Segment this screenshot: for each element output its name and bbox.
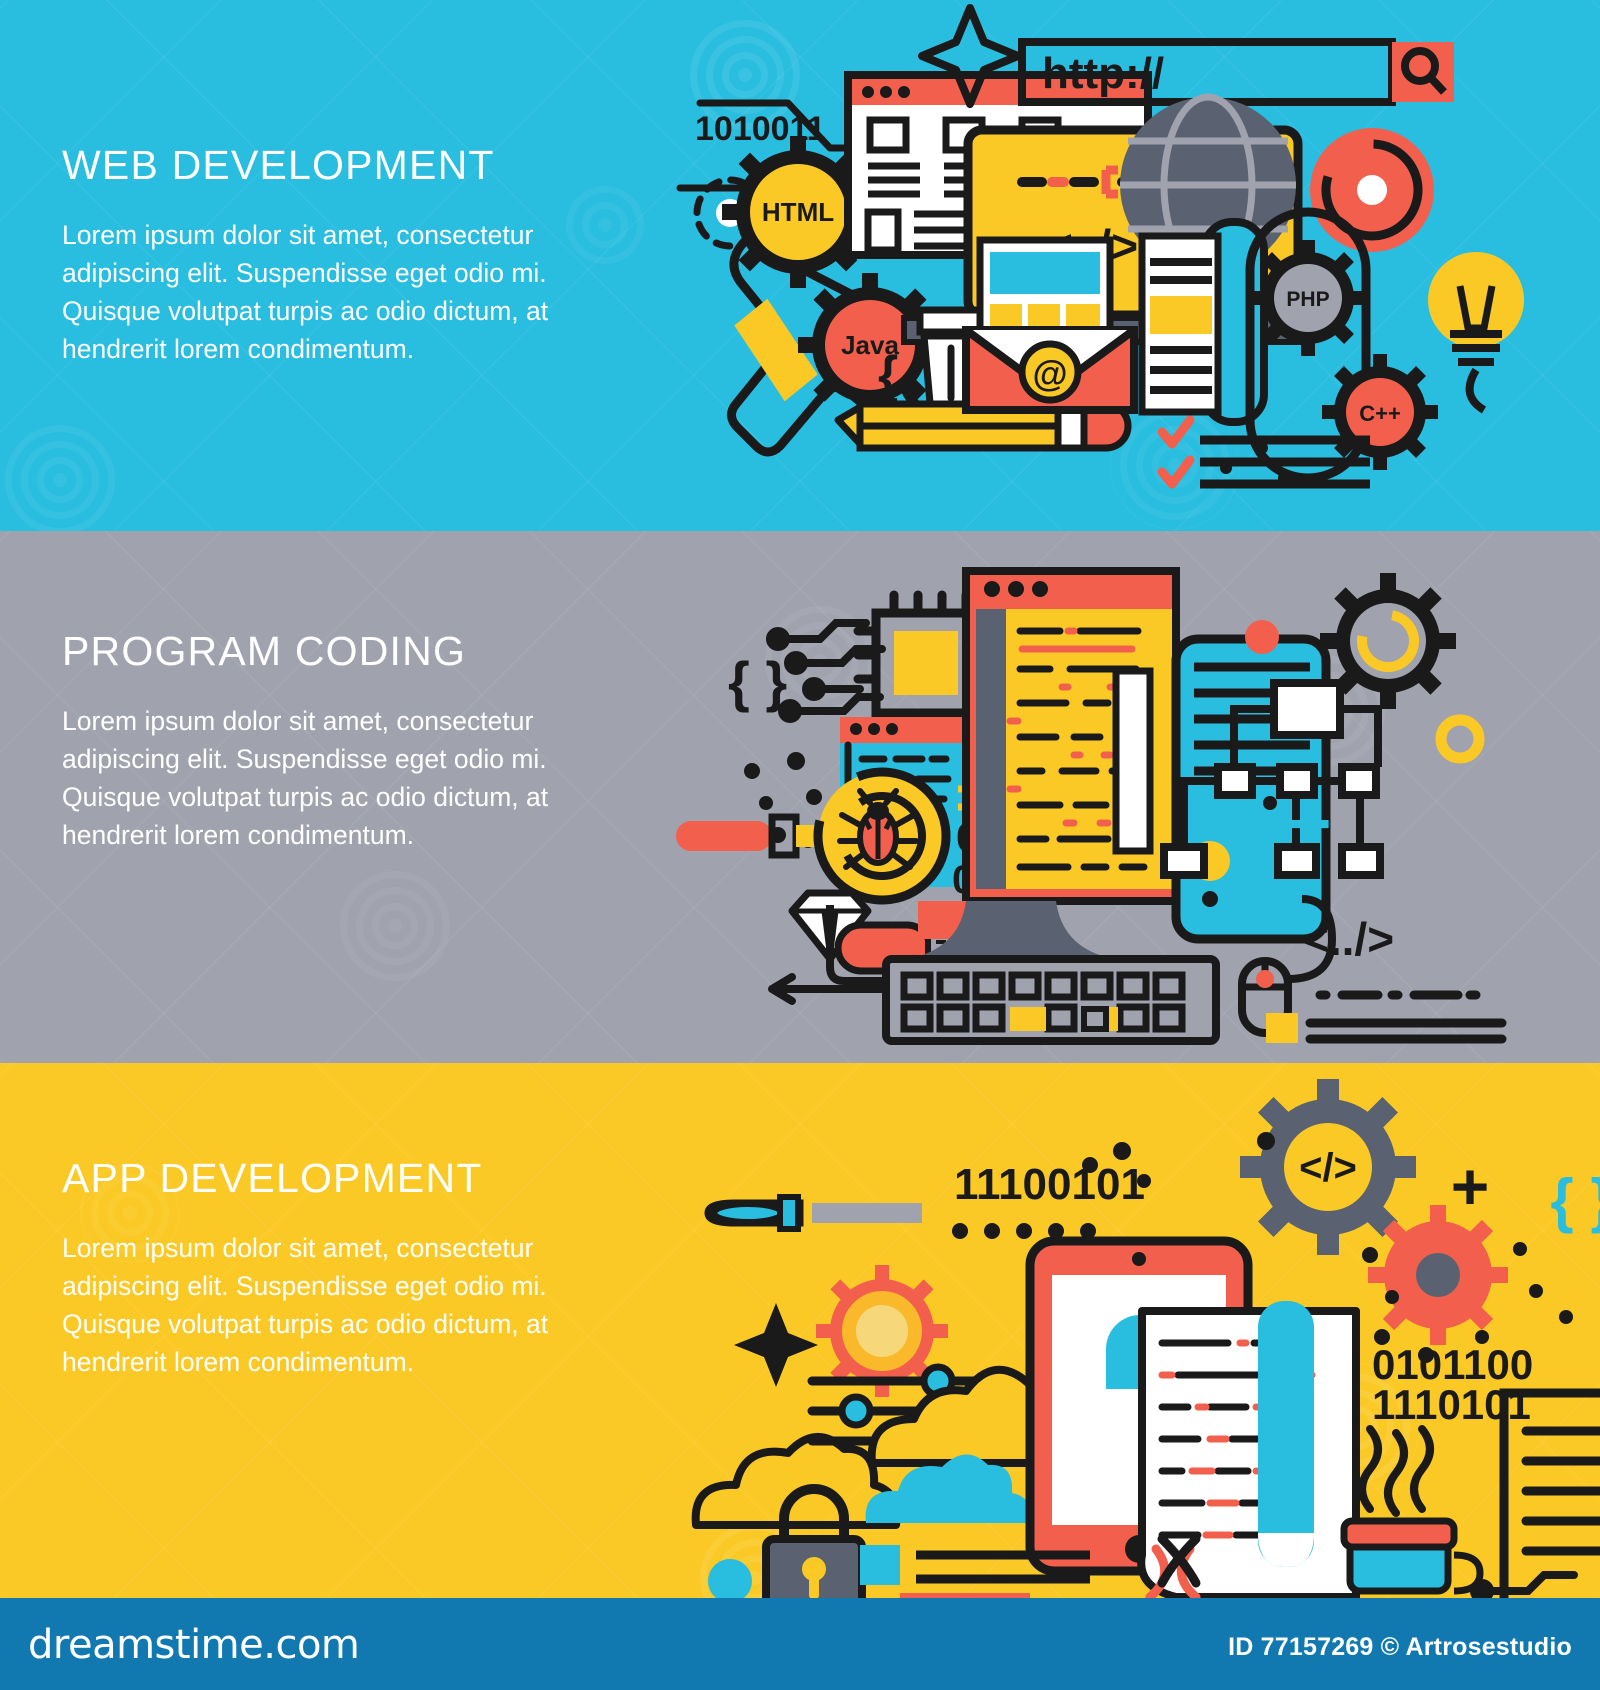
banner-program-coding: PROGRAM CODING Lorem ipsum dolor sit ame… xyxy=(0,531,1600,1063)
svg-text:<../>: <../> xyxy=(1302,913,1394,965)
lightbulb-icon xyxy=(1428,252,1524,410)
search-bar-icon: http:// xyxy=(1022,42,1454,102)
lock-icon xyxy=(766,1489,862,1598)
banner-stack: WEB DEVELOPMENT Lorem ipsum dolor sit am… xyxy=(0,0,1600,1690)
envelope-icon: @ xyxy=(966,240,1134,410)
gear-icon xyxy=(1320,573,1456,709)
banner-body-text: Lorem ipsum dolor sit amet, consectetur … xyxy=(62,216,642,369)
sparkle-icon xyxy=(734,1303,818,1387)
svg-text:http://: http:// xyxy=(1042,49,1164,98)
illustration-web-development: 1010011 xyxy=(670,0,1600,531)
document-icon xyxy=(1142,236,1218,412)
svg-text:</>: </> xyxy=(1299,1146,1357,1190)
svg-text:HTML: HTML xyxy=(762,197,834,227)
watermark-spiral xyxy=(0,420,120,531)
banner-body-text: Lorem ipsum dolor sit amet, consectetur … xyxy=(62,1229,642,1382)
gear-orange-icon xyxy=(1368,1205,1508,1345)
svg-text:{ }: { } xyxy=(728,650,787,713)
image-credit: ID 77157269 © Artrosestudio xyxy=(1228,1633,1572,1662)
illustration-program-coding: { } xyxy=(670,531,1600,1063)
svg-text:PHP: PHP xyxy=(1286,288,1329,311)
svg-text:+: + xyxy=(1451,1149,1490,1223)
banner-copy-app: APP DEVELOPMENT Lorem ipsum dolor sit am… xyxy=(62,1158,642,1382)
record-circle-icon xyxy=(1307,125,1437,255)
svg-text:{: { xyxy=(878,346,898,404)
dreamstime-logo-text: dreamstime.com xyxy=(28,1622,359,1668)
banner-copy-web: WEB DEVELOPMENT Lorem ipsum dolor sit am… xyxy=(62,145,642,369)
page-title: WEB DEVELOPMENT xyxy=(62,145,642,186)
illustration-app-development: 11100101 xyxy=(670,1063,1600,1598)
page-title: APP DEVELOPMENT xyxy=(62,1158,642,1199)
svg-text:C++: C++ xyxy=(1359,401,1401,426)
screwdriver-icon xyxy=(708,1197,922,1229)
page-title: PROGRAM CODING xyxy=(62,631,642,672)
banner-copy-prog: PROGRAM CODING Lorem ipsum dolor sit ame… xyxy=(62,631,642,855)
banner-web-development: WEB DEVELOPMENT Lorem ipsum dolor sit am… xyxy=(0,0,1600,531)
dreamstime-logo: dreamstime.com xyxy=(28,1622,359,1668)
banner-app-development: APP DEVELOPMENT Lorem ipsum dolor sit am… xyxy=(0,1063,1600,1598)
coffee-mug-icon xyxy=(1344,1429,1480,1591)
pencil-icon xyxy=(1258,1301,1314,1567)
watermark-spiral xyxy=(340,871,450,981)
svg-text:{ }: { } xyxy=(1550,1167,1600,1234)
footer-bar: dreamstime.com ID 77157269 © Artrosestud… xyxy=(0,1598,1600,1690)
svg-text:@: @ xyxy=(1032,353,1067,394)
binary-label-app-top: 11100101 xyxy=(954,1160,1145,1209)
banner-body-text: Lorem ipsum dolor sit amet, consectetur … xyxy=(62,702,642,855)
circuit-trace-icon xyxy=(1474,1575,1574,1598)
svg-text:+: + xyxy=(1288,782,1331,865)
